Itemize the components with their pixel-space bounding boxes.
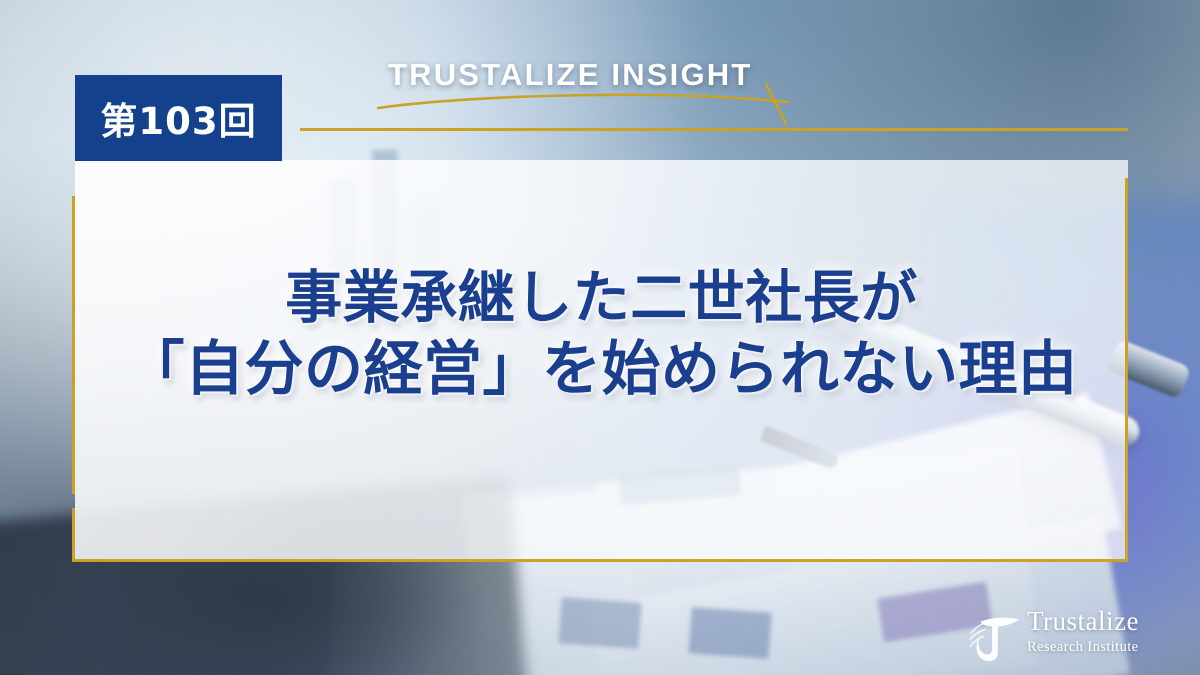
brand-logo: Trustalize Research Institute [965, 606, 1191, 668]
article-title: 事業承継した二世社長が 「自分の経営」を始められない理由 [75, 265, 1128, 404]
brand-name: Trustalize [1027, 608, 1139, 635]
title-line-1: 事業承継した二世社長が [75, 265, 1128, 331]
frame-border-left-lower [72, 508, 75, 562]
slide-canvas: 第103回 TRUSTALIZE INSIGHT 事業承継した二世社長が 「自分… [0, 0, 1200, 675]
brand-logo-text: Trustalize Research Institute [1027, 608, 1139, 655]
trustalize-t-mark-icon [965, 608, 1023, 666]
series-title: TRUSTALIZE INSIGHT [388, 57, 753, 93]
brand-subtitle: Research Institute [1027, 640, 1139, 655]
frame-border-top [300, 128, 1128, 131]
frame-border-bottom [74, 559, 1128, 562]
title-line-2: 「自分の経営」を始められない理由 [75, 335, 1128, 403]
episode-badge: 第103回 [75, 75, 282, 161]
episode-badge-label: 第103回 [100, 91, 256, 145]
